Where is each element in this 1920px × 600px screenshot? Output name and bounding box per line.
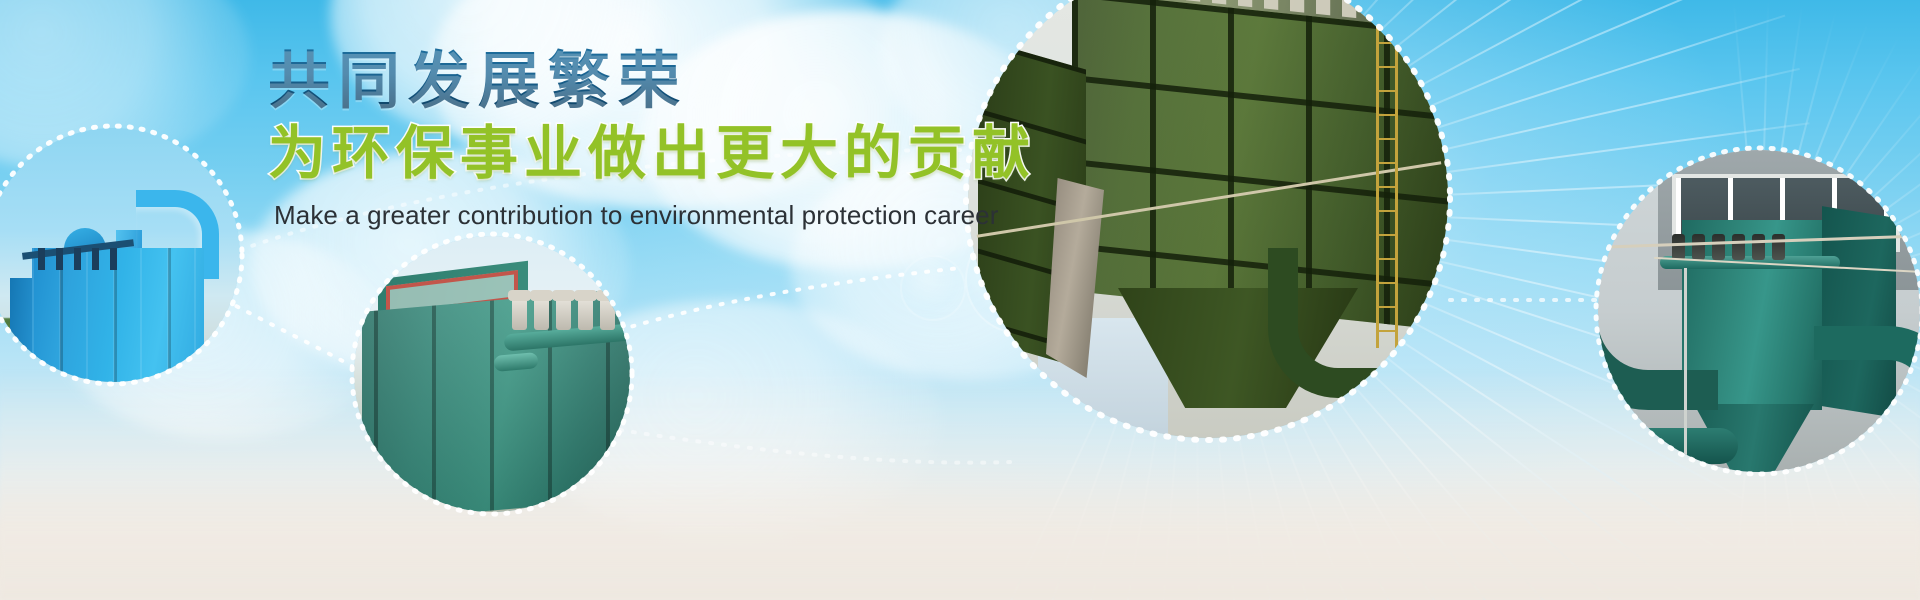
photo-circle-blue-dust-collector bbox=[0, 128, 240, 382]
headline-secondary: 为环保事业做出更大的贡献 bbox=[268, 121, 1168, 186]
headline-primary: 共同发展繁荣 bbox=[268, 48, 1168, 115]
photo-circle-teal-dust-collector-piping bbox=[1598, 150, 1920, 472]
photo-circle-teal-dust-collector bbox=[354, 236, 630, 512]
subheadline-english: Make a greater contribution to environme… bbox=[274, 200, 1168, 231]
hero-banner: 共同发展繁荣 为环保事业做出更大的贡献 Make a greater contr… bbox=[0, 0, 1920, 600]
banner-text-block: 共同发展繁荣 为环保事业做出更大的贡献 Make a greater contr… bbox=[268, 48, 1168, 231]
